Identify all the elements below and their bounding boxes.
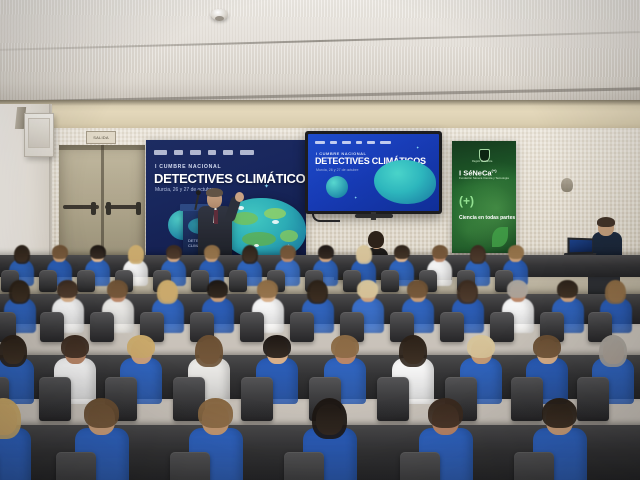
audience-member-hair xyxy=(394,245,410,259)
wall-speaker-icon xyxy=(24,113,54,157)
audience-member-hair xyxy=(9,280,30,304)
audience-member-hair xyxy=(157,280,178,304)
audience-member-hair xyxy=(257,280,278,298)
star-icon: ✦ xyxy=(416,146,419,150)
seneca-rollup-banner: Región de Murcia I SéNeCa(+) Fundación S… xyxy=(452,141,516,253)
auditorium-photo: SALIDA I CUMBRE NACIONAL DETECTIVES CLIM… xyxy=(0,0,640,480)
beam-shadow xyxy=(0,100,640,106)
screen-stand xyxy=(355,214,393,218)
auditorium-seat[interactable] xyxy=(284,452,325,480)
presentation-screen[interactable]: I CUMBRE NACIONAL DETECTIVES CLIMÁTICOS … xyxy=(305,131,442,214)
audience-member-hair xyxy=(331,335,358,358)
door-handle xyxy=(106,202,111,215)
audience-member-hair xyxy=(242,245,258,264)
audience-member-hair xyxy=(207,280,228,298)
audience-member xyxy=(0,393,33,480)
sponsor-logo xyxy=(190,150,201,155)
audience-member-hair xyxy=(52,245,68,259)
auditorium-seat[interactable] xyxy=(400,452,441,480)
sponsor-logo xyxy=(174,150,183,155)
door-handle xyxy=(136,202,141,215)
rollup-subtitle: Fundación Séneca Ciencia y Tecnología xyxy=(459,177,509,181)
audience-member-hair xyxy=(542,398,577,428)
audience-member-hair xyxy=(280,245,296,259)
audience-member-hair xyxy=(318,245,334,259)
globe-landmass xyxy=(280,230,298,242)
audience-member-hair xyxy=(467,335,494,358)
star-icon: ✦ xyxy=(264,184,269,190)
auditorium-seat[interactable] xyxy=(377,377,409,421)
audience-member-hair xyxy=(432,245,448,259)
exit-sign-label: SALIDA xyxy=(93,136,108,140)
screen-content: I CUMBRE NACIONAL DETECTIVES CLIMÁTICOS … xyxy=(308,134,439,211)
audience-member-hair xyxy=(407,280,428,298)
banner-title: DETECTIVES CLIMÁTICOS xyxy=(154,171,306,186)
auditorium-seat[interactable] xyxy=(514,452,555,480)
presenter-hair xyxy=(206,188,223,197)
screen-sponsor-logos xyxy=(315,140,432,145)
auditorium-seat[interactable] xyxy=(39,377,71,421)
audience-member-hair xyxy=(128,245,144,264)
audience-member-hair xyxy=(107,280,128,298)
screen-subtitle: Murcia, 26 y 27 de octubre xyxy=(316,168,359,172)
presenter-tie xyxy=(214,210,218,224)
audience-member-hair xyxy=(14,245,30,264)
sponsor-logo xyxy=(208,150,216,155)
audience-member-hair xyxy=(605,280,626,304)
audience-member-hair xyxy=(127,335,154,358)
audience-member-hair xyxy=(84,398,119,428)
sponsor-logo xyxy=(223,150,233,155)
sponsor-logo xyxy=(356,141,362,145)
globe-landmass xyxy=(264,208,286,219)
star-icon: ✦ xyxy=(354,196,357,200)
audience xyxy=(0,243,640,480)
region-crest-icon: Región de Murcia xyxy=(472,148,494,161)
audience-member-hair xyxy=(312,398,347,439)
audience-member-hair xyxy=(599,335,626,367)
screen-moon-illustration xyxy=(326,176,348,198)
audience-member-hair xyxy=(57,280,78,298)
audience-member-hair xyxy=(198,398,233,428)
audience-member-hair xyxy=(61,335,88,358)
audience-member-hair xyxy=(507,280,528,298)
audience-member-hair xyxy=(557,280,578,298)
sponsor-logo xyxy=(330,141,337,145)
screen-globe-illustration xyxy=(374,160,436,204)
sponsor-logo xyxy=(367,141,375,145)
auditorium-seat[interactable] xyxy=(56,452,97,480)
wall-sconce-icon xyxy=(561,178,573,192)
audience-member-hair xyxy=(307,280,328,304)
audience-member-hair xyxy=(533,335,560,358)
globe-cloud-icon xyxy=(272,220,279,224)
audience-member-hair xyxy=(470,245,486,264)
audience-member-hair xyxy=(0,335,27,367)
audience-member-hair xyxy=(356,245,372,264)
rollup-plus-symbol: (+) xyxy=(459,194,474,208)
sponsor-logo xyxy=(240,150,254,155)
audience-member-hair xyxy=(90,245,106,259)
audience-member-hair xyxy=(399,335,426,367)
audience-member-hair xyxy=(263,335,290,358)
technician-hair xyxy=(597,217,615,227)
rollup-title-sup: (+) xyxy=(492,168,497,173)
smoke-detector-icon xyxy=(211,9,228,20)
audience-member-hair xyxy=(508,245,524,259)
auditorium-seat[interactable] xyxy=(241,377,273,421)
sponsor-logo xyxy=(342,141,351,145)
exit-sign: SALIDA xyxy=(86,131,116,144)
banner-kicker: I CUMBRE NACIONAL xyxy=(155,164,221,170)
audience-member-hair xyxy=(457,280,478,304)
presenter-hand xyxy=(235,192,244,202)
rollup-claim: Ciencia en todas partes xyxy=(459,215,515,221)
audience-member-hair xyxy=(204,245,220,259)
sponsor-logo xyxy=(154,150,167,155)
audience-member-hair xyxy=(428,398,463,428)
sponsor-logo xyxy=(380,141,391,145)
auditorium-seat[interactable] xyxy=(170,452,211,480)
banner-sponsor-logos xyxy=(154,149,298,156)
audience-member-hair xyxy=(195,335,222,367)
audience-member-hair xyxy=(166,245,182,259)
ceiling-panel xyxy=(0,0,640,104)
audience-member-hair xyxy=(357,280,378,298)
sponsor-logo xyxy=(315,141,325,145)
crest-label: Región de Murcia xyxy=(472,160,492,163)
door-handle xyxy=(91,202,96,215)
